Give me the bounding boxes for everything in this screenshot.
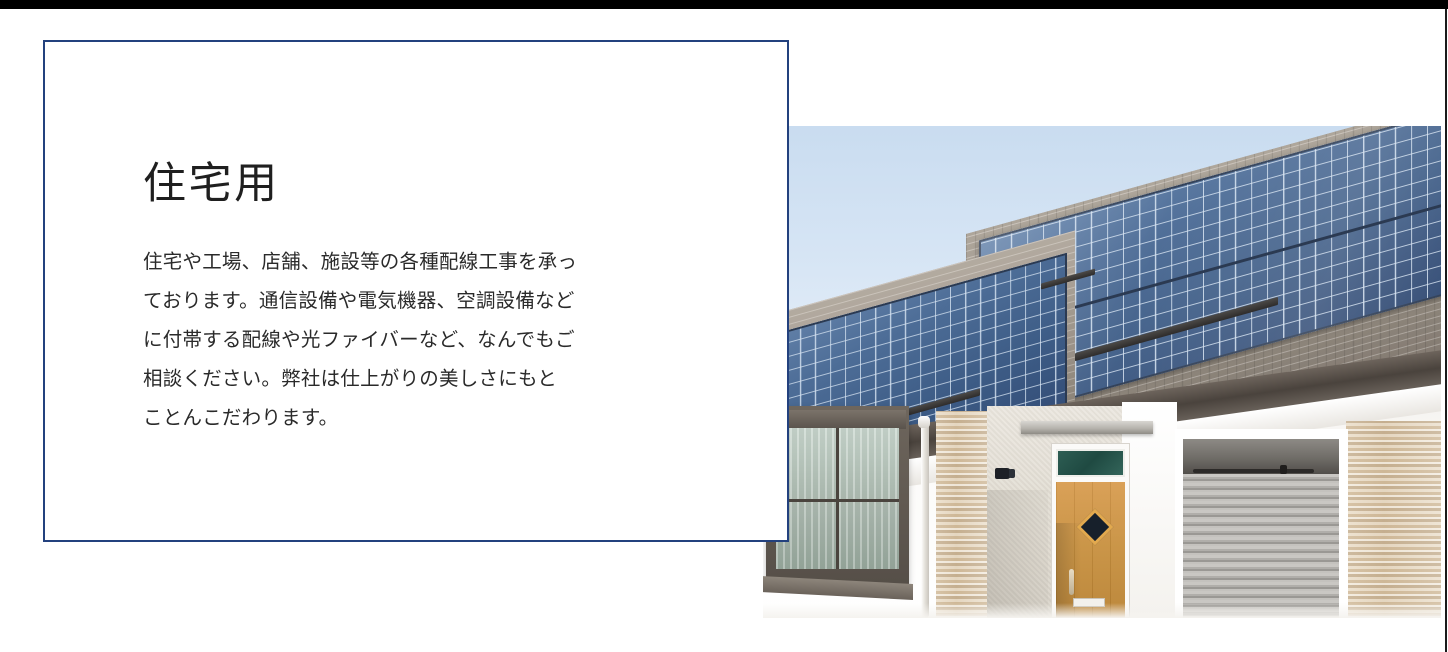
residential-info-card: 住宅用 住宅や工場、店舗、施設等の各種配線工事を承っ ております。通信設備や電気… (43, 40, 789, 542)
window-mullion-vertical (836, 428, 839, 570)
stone-wall-left (936, 411, 987, 618)
wall-shadow (987, 490, 1048, 618)
white-render-panel (1122, 402, 1176, 618)
wall-lamp-icon (995, 468, 1011, 479)
page-stage: 住宅用 住宅や工場、店舗、施設等の各種配線工事を承っ ております。通信設備や電気… (0, 9, 1446, 652)
front-door-leaf (1056, 482, 1125, 618)
entrance-canopy (1021, 421, 1153, 434)
viewport-right-edge (1445, 9, 1447, 652)
shutter-knob (1280, 465, 1287, 474)
top-chrome-bar (0, 0, 1448, 9)
description-line: に付帯する配線や光ファイバーなど、なんでもご (143, 321, 683, 360)
photo-canvas (763, 126, 1441, 618)
door-handle (1069, 569, 1074, 595)
roller-shutter-slats (1183, 474, 1339, 618)
ground-fade (763, 603, 1441, 618)
card-description: 住宅や工場、店舗、施設等の各種配線工事を承っ ております。通信設備や電気機器、空… (143, 243, 683, 438)
description-line: 住宅や工場、店舗、施設等の各種配線工事を承っ (143, 243, 683, 282)
description-line: ことんこだわります。 (143, 399, 683, 438)
description-line: ております。通信設備や電気機器、空調設備など (143, 282, 683, 321)
window-head-box (769, 410, 906, 429)
shutter-recess (1183, 439, 1339, 618)
card-content: 住宅用 住宅や工場、店舗、施設等の各種配線工事を承っ ております。通信設備や電気… (143, 160, 683, 438)
front-door-frame (1051, 443, 1130, 618)
door-diamond-window (1077, 509, 1114, 546)
residential-solar-house-photo (763, 126, 1441, 618)
downpipe-cap (918, 416, 930, 428)
downpipe (921, 421, 929, 618)
shutter-rail (1193, 469, 1315, 473)
stone-wall-right (1346, 421, 1441, 618)
door-transom-window (1056, 449, 1125, 477)
garage-opening (1177, 431, 1347, 618)
description-line: 相談ください。弊社は仕上がりの美しさにもと (143, 360, 683, 399)
page-title: 住宅用 (143, 160, 683, 209)
